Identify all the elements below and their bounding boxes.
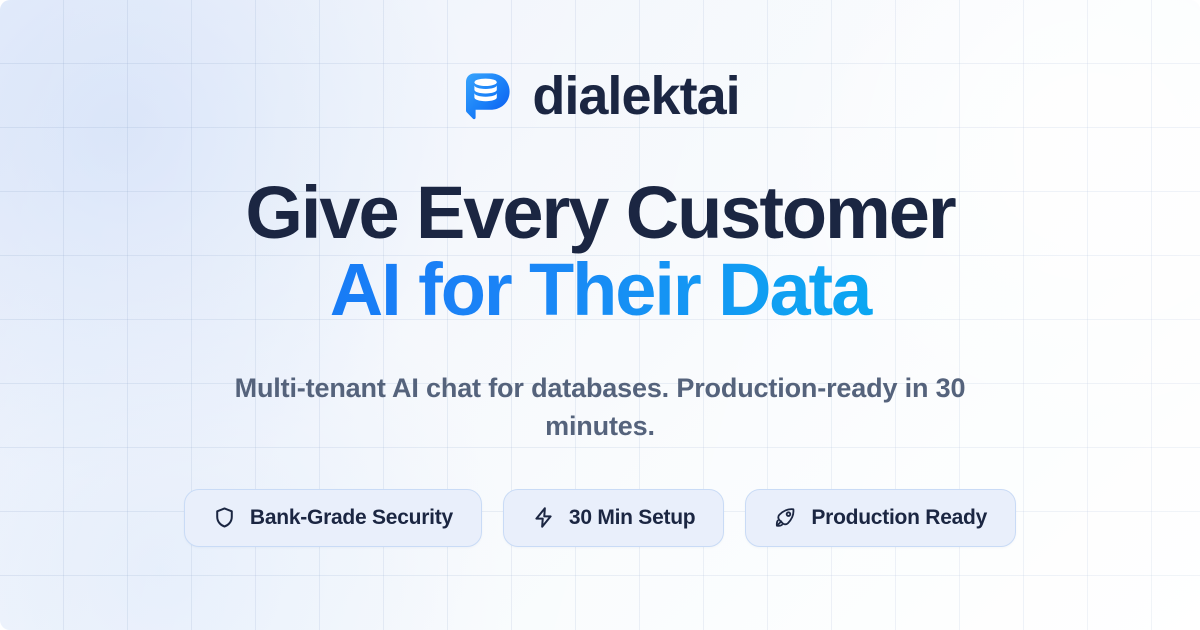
- badge-30-min-setup[interactable]: 30 Min Setup: [503, 489, 725, 547]
- page-title: Give Every Customer AI for Their Data: [245, 175, 954, 329]
- brand-lockup: dialektai: [460, 69, 739, 123]
- hero-content: dialektai Give Every Customer AI for The…: [0, 0, 1200, 630]
- zap-icon: [532, 506, 555, 529]
- database-speech-bubble-icon: [460, 69, 514, 123]
- brand-name: dialektai: [532, 69, 739, 123]
- rocket-icon: [774, 506, 797, 529]
- badge-label: Production Ready: [811, 506, 987, 530]
- headline-line-2: AI for Their Data: [245, 252, 954, 329]
- hero-subtitle: Multi-tenant AI chat for databases. Prod…: [200, 369, 1000, 446]
- badge-bank-grade-security[interactable]: Bank-Grade Security: [184, 489, 482, 547]
- shield-icon: [213, 506, 236, 529]
- badge-label: Bank-Grade Security: [250, 506, 453, 530]
- headline-line-1: Give Every Customer: [245, 171, 954, 254]
- feature-badge-row: Bank-Grade Security 30 Min Setup Product…: [184, 489, 1016, 547]
- logo-mark: [460, 69, 514, 123]
- badge-label: 30 Min Setup: [569, 506, 696, 530]
- og-card-canvas: dialektai Give Every Customer AI for The…: [0, 0, 1200, 630]
- badge-production-ready[interactable]: Production Ready: [745, 489, 1016, 547]
